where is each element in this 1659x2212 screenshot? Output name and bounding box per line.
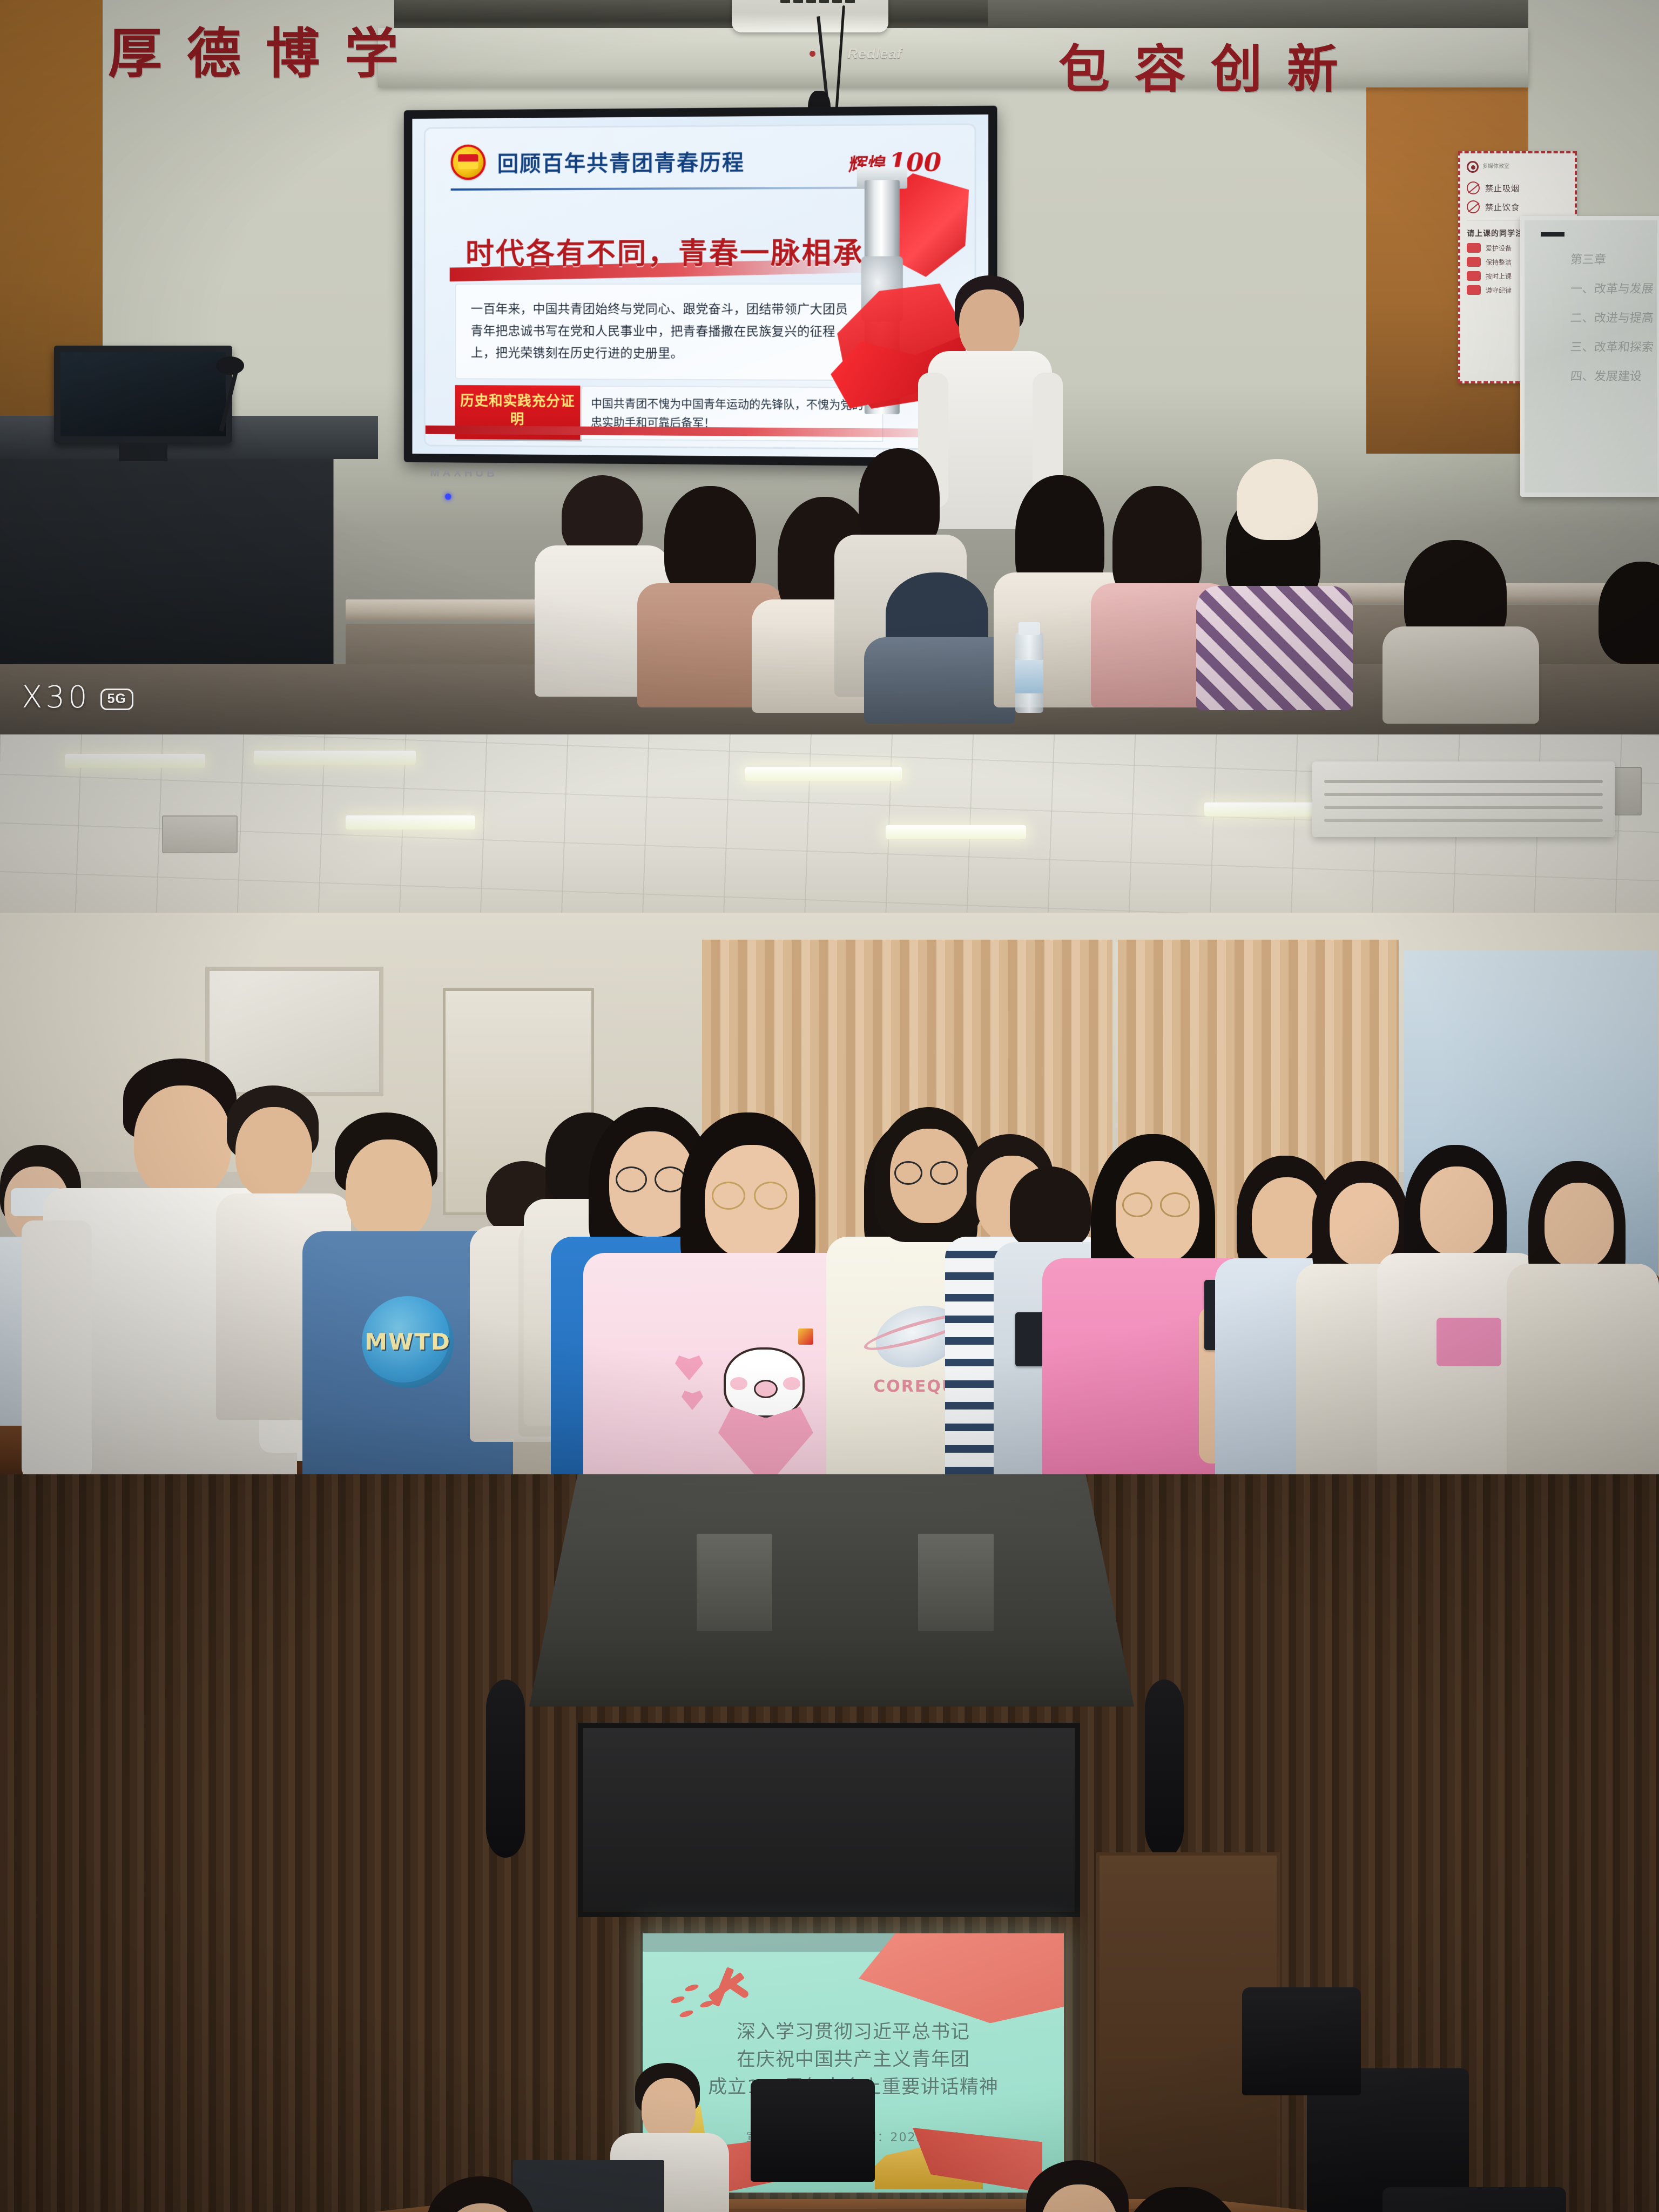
slide-frame: 回顾百年共青团青春历程 辉煌 100 光荣历程 时代各有不同，青春一脉相承 一百…: [424, 123, 976, 450]
poster-rule-item: 禁止饮食: [1467, 200, 1568, 213]
watermark-model: X30: [22, 680, 91, 715]
poster-rule-text: 禁止吸烟: [1485, 183, 1520, 194]
student-floral-shirt: [1196, 586, 1353, 710]
poster-subrule-text: 爱护设备: [1486, 244, 1512, 253]
equipment-icon: [1467, 243, 1481, 253]
office-chair[interactable]: [1242, 1987, 1361, 2095]
podium-monitor[interactable]: [513, 2160, 664, 2212]
lectern-monitor-stand: [119, 443, 167, 461]
projector-brand-label: Redleaf: [847, 45, 902, 62]
motto-char-de: 德: [187, 27, 241, 81]
poster-rule-item: 禁止吸烟: [1467, 181, 1568, 194]
ceiling-lamp: [65, 754, 205, 768]
water-bottle-label: [1015, 660, 1043, 693]
eyeglasses-left-lens: [712, 1182, 745, 1210]
pig-cheek-icon: [783, 1377, 800, 1390]
student-shirt: [1507, 1264, 1659, 1474]
whiteboard-line: 二、改进与提高: [1570, 308, 1655, 326]
water-bottle-cap: [1019, 622, 1040, 635]
student-head: [134, 1085, 231, 1199]
poster-logo-caption: 多媒体教室: [1482, 164, 1509, 170]
student-hair: [562, 475, 643, 556]
whiteboard-line: 第三章: [1570, 250, 1655, 267]
student-head: [1330, 1183, 1399, 1266]
motto-char-rong: 容: [1135, 44, 1186, 96]
whiteboard-line: 三、改革和探索: [1570, 338, 1655, 355]
air-conditioner-unit: [1312, 761, 1615, 837]
wall-display-off[interactable]: [578, 1723, 1080, 1917]
wall-speaker: [486, 1680, 525, 1858]
no-smoking-icon: [1467, 181, 1480, 194]
whiteboard-clip: [1541, 232, 1564, 237]
pig-snout-icon: [754, 1380, 778, 1398]
clock-icon: [1467, 271, 1481, 281]
eyeglasses-left-lens: [894, 1161, 922, 1185]
display-power-led: [445, 494, 451, 500]
ceiling-lamp: [254, 751, 416, 765]
hammer-sickle-icon: [703, 1967, 752, 2015]
whiteboard-line: 四、发展建设: [1570, 367, 1655, 384]
ceiling-light-panel: [918, 1534, 994, 1631]
presenter-head: [642, 2078, 696, 2141]
student-head: [235, 1107, 312, 1199]
office-chair[interactable]: [1382, 2187, 1566, 2212]
lectern-monitor-screen: [60, 352, 226, 436]
no-eating-icon: [1467, 200, 1480, 213]
eyeglasses-right-lens: [754, 1182, 787, 1210]
panel-conference-room: 深入学习贯彻习近平总书记 在庆祝中国共产主义青年团 成立100周年大会上重要讲话…: [0, 1474, 1659, 2212]
slide-header-title: 回顾百年共青团青春历程: [497, 145, 745, 177]
poster-rule-text: 禁止饮食: [1485, 201, 1520, 213]
motto-char-xin: 新: [1287, 44, 1338, 96]
student-hair: [1010, 1166, 1091, 1247]
ceiling-beam: Redleaf: [378, 28, 1528, 87]
student-hair-light: [1237, 459, 1318, 540]
whiteboard-line: 一、改革与发展: [1570, 279, 1655, 296]
ceiling-lamp: [346, 815, 475, 829]
slide-header: 回顾百年共青团青春历程: [451, 143, 745, 180]
eyeglasses-left-lens: [616, 1166, 647, 1192]
eyeglasses-left-lens: [1122, 1192, 1152, 1217]
whiteboard: 第三章 一、改革与发展 二、改进与提高 三、改革和探索 四、发展建设: [1520, 216, 1659, 497]
photo-collage: Redleaf 厚 德 博 学 包 容 创 新 回顾: [0, 0, 1659, 2212]
student-shirt: [1382, 626, 1539, 724]
poster-subrule-text: 按时上课: [1486, 272, 1512, 281]
poster-logo-row: 多媒体教室: [1467, 161, 1568, 173]
wall-motto-left: 厚 德 博 学: [108, 27, 399, 81]
student-head: [346, 1139, 432, 1242]
presenter-head: [959, 289, 1020, 360]
student-arm: [22, 1220, 92, 1474]
pig-cheek-icon: [730, 1377, 747, 1390]
youth-league-emblem-icon: [451, 144, 486, 180]
whiteboard-writing: 第三章 一、改革与发展 二、改进与提高 三、改革和探索 四、发展建设: [1570, 250, 1654, 396]
ceiling-strip-secondary: [988, 0, 1528, 29]
student-pink-tshirt: [583, 1253, 864, 1474]
party-badge: [798, 1328, 813, 1345]
interactive-display[interactable]: 回顾百年共青团青春历程 辉煌 100 光荣历程 时代各有不同，青春一脉相承 一百…: [404, 106, 997, 467]
ceiling-light-panel: [697, 1534, 772, 1631]
ceiling-lamp: [745, 767, 902, 781]
lectern-microphone-head: [216, 356, 244, 375]
motto-char-bo: 博: [266, 27, 320, 81]
motto-char-hou: 厚: [108, 27, 162, 81]
slide-title-line1: 深入学习贯彻习近平总书记: [643, 2019, 1064, 2046]
poster-subrule-text: 保持整洁: [1486, 258, 1512, 267]
panel-classroom-lecture: Redleaf 厚 德 博 学 包 容 创 新 回顾: [0, 0, 1659, 734]
monitor-icon: [1467, 257, 1481, 267]
slide-title-line2: 在庆祝中国共产主义青年团: [643, 2046, 1064, 2074]
display-brand-label: MAXHUB: [430, 467, 498, 480]
screen-flag-graphic: [859, 1933, 1064, 2025]
lectern-monitor: [54, 346, 232, 443]
ceiling-lamp: [886, 825, 1026, 839]
motto-char-chuang: 创: [1211, 44, 1262, 96]
eyeglasses-right-lens: [930, 1161, 958, 1185]
presentation-slide: 回顾百年共青团青春历程 辉煌 100 光荣历程 时代各有不同，青春一脉相承 一百…: [412, 114, 988, 458]
eyeglasses-right-lens: [1160, 1192, 1190, 1217]
student-hair: [664, 486, 756, 599]
ceiling-vent: [162, 815, 238, 853]
panel-students-standing: MWTD: [0, 734, 1659, 1474]
student-head: [1252, 1177, 1322, 1263]
camera-watermark: X30 5G: [22, 680, 133, 715]
student-head: [1545, 1183, 1614, 1268]
projector-ports: [780, 0, 883, 8]
student-head: [1420, 1166, 1493, 1256]
wall-motto-right: 包 容 创 新: [1058, 44, 1338, 96]
wall-board: [205, 967, 383, 1096]
watermark-network-badge: 5G: [100, 689, 133, 710]
tshirt-text-mwtd: MWTD: [362, 1328, 454, 1355]
motto-char-xue: 学: [345, 27, 399, 81]
office-chair[interactable]: [751, 2079, 875, 2182]
poster-subrule-text: 遵守纪律: [1486, 286, 1512, 295]
tshirt-graphic-icon: [1437, 1318, 1501, 1366]
student-shirt: [864, 637, 1015, 724]
motto-char-bao: 包: [1058, 44, 1110, 96]
poster-logo-icon: [1467, 161, 1479, 173]
wall-speaker: [1145, 1680, 1184, 1858]
beam-indicator-dot: [810, 51, 815, 57]
conference-ceiling: [529, 1474, 1134, 1707]
rulebook-icon: [1467, 285, 1481, 295]
